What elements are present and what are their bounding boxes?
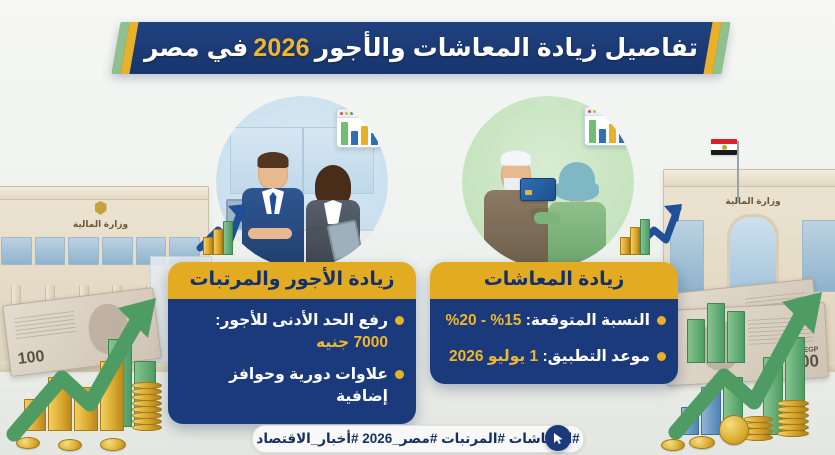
infographic-canvas: وزارة المالية وزارة المالية bbox=[0, 0, 835, 455]
bullet-value: 7000 جنيه bbox=[316, 334, 388, 351]
title-part-before: تفاصيل زيادة المعاشات والأجور bbox=[315, 33, 698, 63]
bullet-label: موعد التطبيق: bbox=[542, 348, 650, 365]
coin-left-3 bbox=[100, 438, 126, 451]
bullet-dot-icon bbox=[395, 316, 404, 325]
card-pensions: زيادة المعاشات النسبة المتوقعة: 15% - 20… bbox=[430, 262, 678, 384]
bullet-value: 1 يوليو 2026 bbox=[449, 348, 538, 365]
hashtag-bar: #المعاشات #المرتبات #مصر_2026 #أخبار_الا… bbox=[252, 425, 584, 453]
bullet-dot-icon bbox=[657, 352, 666, 361]
flag-pole bbox=[737, 141, 739, 203]
cursor-arrow-icon[interactable] bbox=[545, 425, 571, 451]
pension-bank-card bbox=[520, 178, 556, 201]
coin-right-1 bbox=[689, 436, 715, 449]
card-wages-heading: زيادة الأجور والمرتبات bbox=[168, 262, 416, 299]
title-part-after: في مصر bbox=[144, 33, 248, 63]
bullet-dot-icon bbox=[395, 370, 404, 379]
bullet-dot-icon bbox=[657, 316, 666, 325]
chart-window-icon bbox=[336, 108, 382, 148]
title-banner: تفاصيل زيادة المعاشات والأجور 2026 في مص… bbox=[116, 22, 726, 74]
elderly-couple-scene bbox=[462, 96, 634, 268]
coin-left-2 bbox=[58, 439, 82, 451]
elderly-woman-figure bbox=[542, 156, 612, 268]
coin-right-2 bbox=[661, 439, 685, 451]
hashtag-text: #المعاشات #المرتبات #مصر_2026 #أخبار_الا… bbox=[256, 431, 579, 447]
egypt-crest-icon bbox=[95, 201, 107, 215]
bullet-value: 15% - 20% bbox=[446, 312, 522, 329]
chart-window-icon bbox=[584, 106, 630, 146]
title-year: 2026 bbox=[253, 34, 309, 63]
bullet-label: علاوات دورية وحوافز إضافية bbox=[180, 364, 388, 408]
card-wages-bullet-2: علاوات دورية وحوافز إضافية bbox=[180, 364, 404, 408]
card-wages-bullet-1: رفع الحد الأدنى للأجور: 7000 جنيه bbox=[180, 310, 404, 354]
card-wages: زيادة الأجور والمرتبات رفع الحد الأدنى ل… bbox=[168, 262, 416, 424]
bullet-label: رفع الحد الأدنى للأجور: bbox=[215, 312, 388, 329]
bullet-label: النسبة المتوقعة: bbox=[526, 312, 650, 329]
coin-stack-right-1 bbox=[777, 401, 809, 437]
hijab-icon bbox=[559, 162, 595, 196]
building-name-right: وزارة المالية bbox=[664, 196, 835, 207]
page-title: تفاصيل زيادة المعاشات والأجور 2026 في مص… bbox=[116, 22, 726, 74]
prayer-cap-icon bbox=[500, 150, 532, 166]
coin-left-1 bbox=[16, 437, 40, 449]
businesswoman-figure bbox=[300, 160, 366, 268]
card-pensions-heading: زيادة المعاشات bbox=[430, 262, 678, 299]
egypt-flag-icon bbox=[711, 139, 737, 155]
building-name-left: وزارة المالية bbox=[0, 219, 208, 230]
businessman-figure bbox=[238, 148, 308, 268]
card-pensions-bullet-2: موعد التطبيق: 1 يوليو 2026 bbox=[442, 346, 666, 368]
coin-stack-left bbox=[132, 383, 162, 431]
card-pensions-bullet-1: النسبة المتوقعة: 15% - 20% bbox=[442, 310, 666, 332]
coin-right-large bbox=[719, 415, 749, 445]
